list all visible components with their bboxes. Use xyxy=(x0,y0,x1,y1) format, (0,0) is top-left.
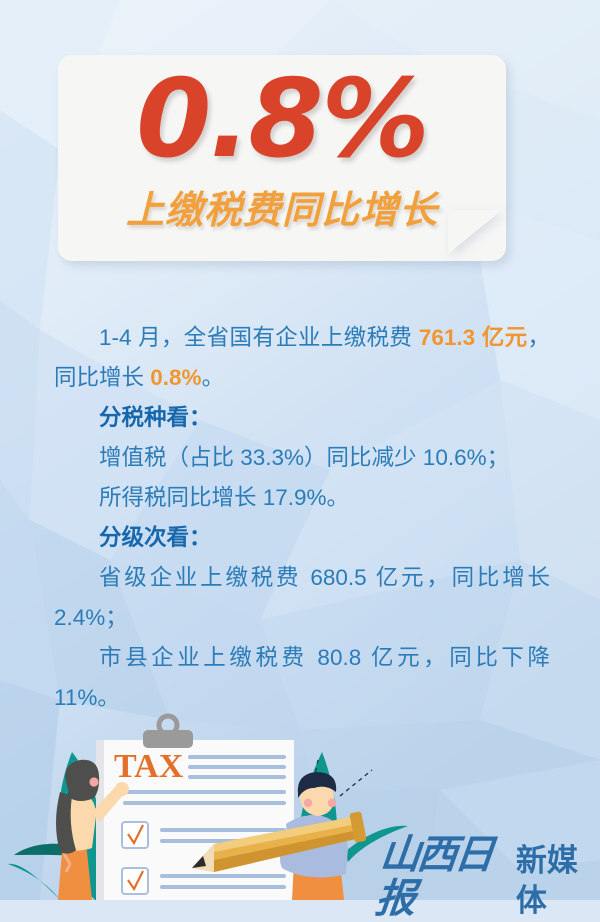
intro-amount: 761.3 亿元 xyxy=(419,325,528,350)
logo-main-text: 山西日报 xyxy=(373,833,516,921)
headline-value: 0.8% xyxy=(58,58,506,182)
body-copy: 1-4 月，全省国有企业上缴税费 761.3 亿元，同比增长 0.8%。 分税种… xyxy=(54,318,550,718)
logo-sub-text: 新媒体 xyxy=(516,841,600,921)
section-line-city-county: 市县企业上缴税费 80.8 亿元，同比下降 11%。 xyxy=(54,638,550,718)
section-line-vat: 增值税（占比 33.3%）同比减少 10.6%； xyxy=(54,438,550,478)
intro-paragraph: 1-4 月，全省国有企业上缴税费 761.3 亿元，同比增长 0.8%。 xyxy=(54,318,550,398)
section-line-income-tax: 所得税同比增长 17.9%。 xyxy=(54,478,550,518)
clipboard-tax-title: TAX xyxy=(114,748,184,785)
intro-suffix: 。 xyxy=(202,365,225,390)
publisher-logo: 山西日报 新媒体 xyxy=(378,833,600,921)
clipboard: TAX xyxy=(96,716,294,900)
section-heading-tax-type: 分税种看： xyxy=(54,398,550,438)
intro-rate: 0.8% xyxy=(150,365,201,390)
headline-subtitle: 上缴税费同比增长 xyxy=(58,188,506,234)
intro-prefix: 1-4 月，全省国有企业上缴税费 xyxy=(99,325,419,350)
section-line-province: 省级企业上缴税费 680.5 亿元，同比增长 2.4%； xyxy=(54,558,550,638)
section-heading-level: 分级次看： xyxy=(54,518,550,558)
